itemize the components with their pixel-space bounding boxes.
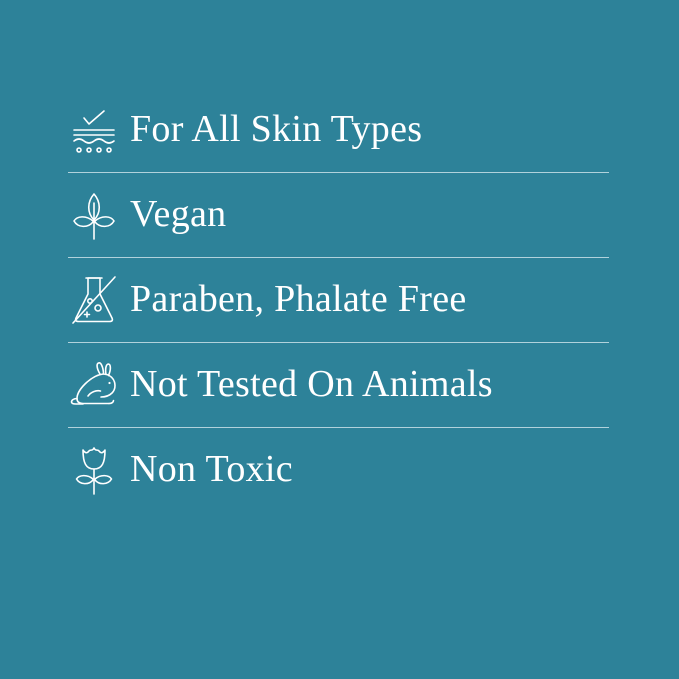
divider <box>68 172 609 173</box>
divider <box>68 342 609 343</box>
product-claims-panel: For All Skin Types Vegan <box>0 0 679 679</box>
feature-row: Not Tested On Animals <box>68 343 609 427</box>
feature-label: Not Tested On Animals <box>130 365 493 405</box>
feature-row: For All Skin Types <box>68 88 609 172</box>
divider <box>68 427 609 428</box>
feature-row: Non Toxic <box>68 428 609 512</box>
feature-list: For All Skin Types Vegan <box>68 88 609 512</box>
skin-layers-check-icon <box>68 102 120 158</box>
feature-label: Non Toxic <box>130 450 293 490</box>
tulip-flower-icon <box>68 442 120 498</box>
rabbit-icon <box>68 357 120 413</box>
feature-label: Vegan <box>130 195 226 235</box>
feature-row: Vegan <box>68 173 609 257</box>
no-chemicals-flask-icon <box>68 272 120 328</box>
feature-label: Paraben, Phalate Free <box>130 280 467 320</box>
feature-label: For All Skin Types <box>130 110 422 150</box>
divider <box>68 257 609 258</box>
leaf-sprout-icon <box>68 187 120 243</box>
feature-row: Paraben, Phalate Free <box>68 258 609 342</box>
